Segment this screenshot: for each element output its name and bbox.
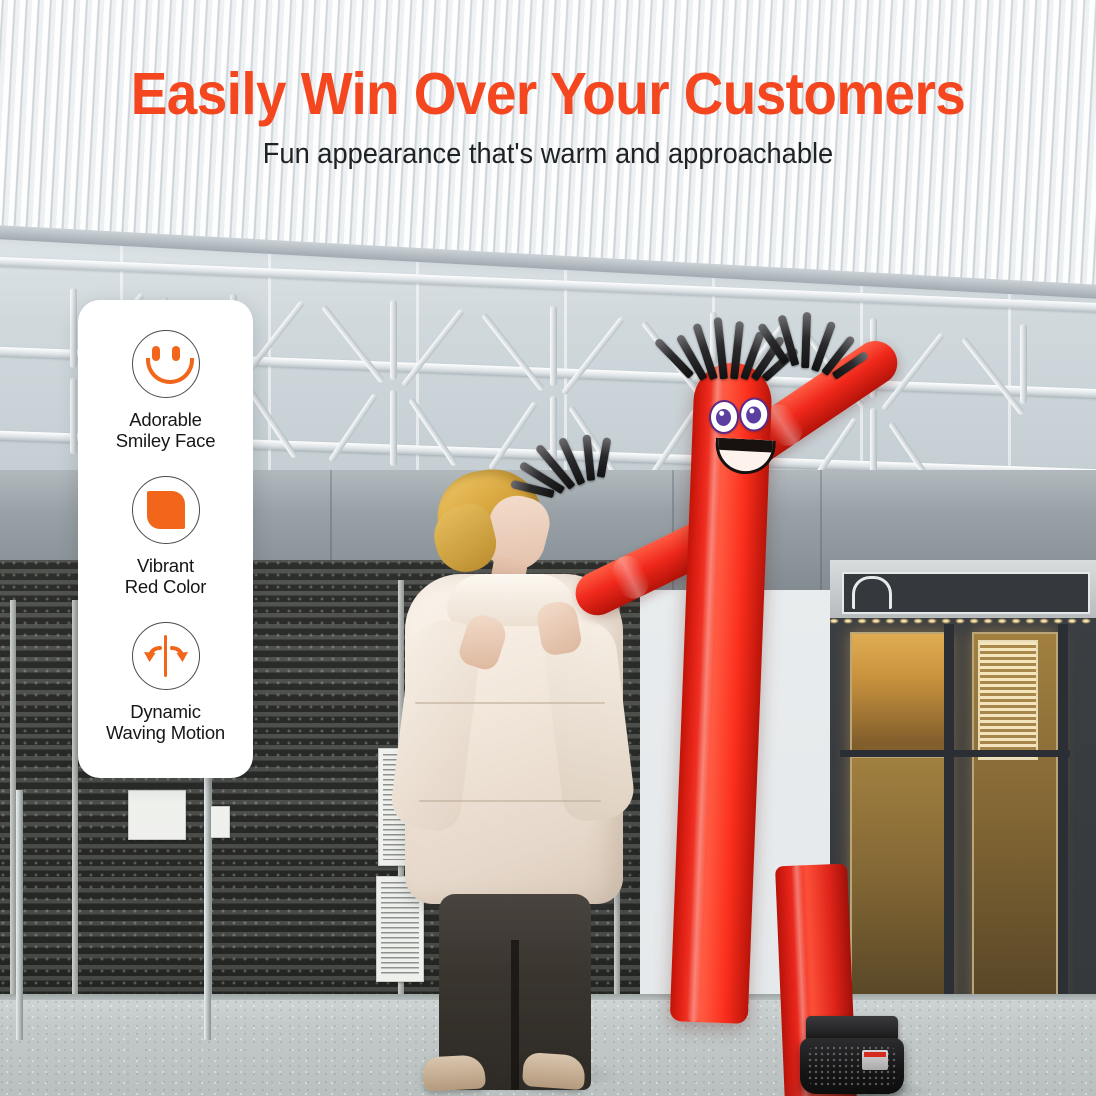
smiley-mouth [146,358,194,384]
trouser-leg-split [511,940,519,1090]
left-shoe [422,1054,486,1091]
right-eye [738,397,770,433]
smiley-face-icon [144,344,188,384]
arm-sheen [607,551,654,604]
posted-sign [128,790,186,840]
color-swatch-icon [147,491,185,529]
red-inflatable-sky-dancer [540,305,920,1095]
window-blind [978,640,1038,760]
feature-label-line1: Dynamic [106,701,225,722]
feature-icon-circle [132,622,200,690]
window-mullion [1058,624,1068,1000]
left-pupil [716,409,732,427]
page-title: Easily Win Over Your Customers [38,60,1057,128]
blower-label [862,1050,888,1070]
smiling-mouth [714,438,776,476]
posted-sign [208,806,230,838]
feature-label-line2: Red Color [125,576,207,597]
feature-item-color[interactable]: Vibrant Red Color [78,476,253,598]
feature-item-motion[interactable]: Dynamic Waving Motion [78,622,253,744]
feature-label: Vibrant Red Color [125,555,207,598]
head-fringe [680,307,770,383]
feature-label-line1: Adorable [116,409,216,430]
vertical-pole [16,790,23,1040]
smiley-face [706,395,780,479]
feature-label-line1: Vibrant [125,555,207,576]
product-banner: Easily Win Over Your Customers Fun appea… [0,0,1096,1096]
left-eye [708,399,740,435]
page-subtitle: Fun appearance that's warm and approacha… [33,138,1063,171]
window-mullion [944,624,954,1000]
feature-card: Adorable Smiley Face Vibrant Red Color [78,300,253,778]
feature-label-line2: Smiley Face [116,430,216,451]
feature-item-smiley[interactable]: Adorable Smiley Face [78,330,253,452]
feature-label: Adorable Smiley Face [116,409,216,452]
feature-icon-circle [132,476,200,544]
feature-label-line2: Waving Motion [106,722,225,743]
feature-icon-circle [132,330,200,398]
right-pupil [746,406,762,424]
feature-label: Dynamic Waving Motion [106,701,225,744]
waving-motion-icon [143,635,189,677]
